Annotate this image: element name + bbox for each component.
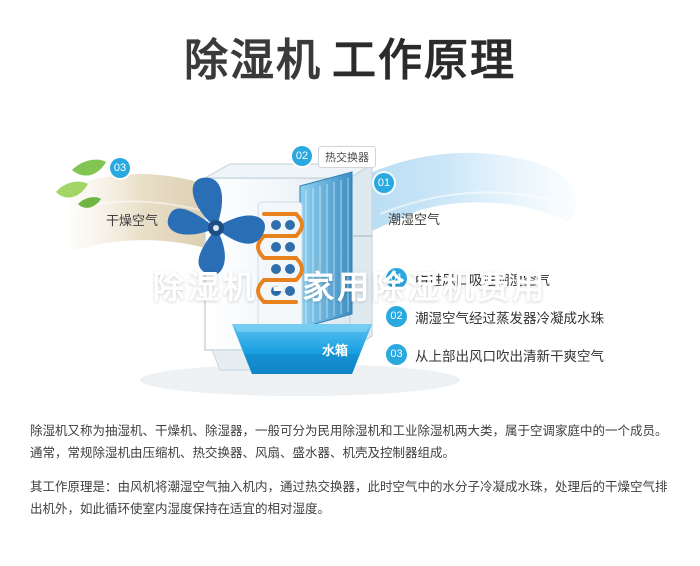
page-title: 除湿机工作原理 xyxy=(0,24,700,88)
dry-air-label: 干燥空气 xyxy=(106,210,158,229)
humid-air-label: 潮湿空气 xyxy=(388,209,440,228)
water-tank xyxy=(232,324,372,374)
list-item: 02 潮湿空气经过蒸发器冷凝成水珠 xyxy=(386,306,686,327)
heat-exchanger-label: 热交换器 xyxy=(318,146,376,168)
step-list: 01 中进风口吸进潮湿空气 02 潮湿空气经过蒸发器冷凝成水珠 03 从上部出风… xyxy=(386,268,686,382)
list-item: 01 中进风口吸进潮湿空气 xyxy=(386,268,686,289)
description-paragraph-1: 除湿机又称为抽湿机、干燥机、除湿器，一般可分为民用除湿机和工业除湿机两大类，属于… xyxy=(30,420,670,464)
heat-exchanger-block xyxy=(300,172,352,328)
list-item: 03 从上部出风口吹出清新干爽空气 xyxy=(386,344,686,365)
step-text: 中进风口吸进潮湿空气 xyxy=(415,269,550,289)
badge-01: 01 xyxy=(374,173,394,193)
page-root: 除湿机工作原理 xyxy=(0,0,700,566)
badge-03: 03 xyxy=(110,158,130,178)
page-title-part2: 工作原理 xyxy=(332,35,516,86)
water-tank-label: 水箱 xyxy=(322,340,348,359)
step-text: 从上部出风口吹出清新干爽空气 xyxy=(415,345,604,365)
badge-02: 02 xyxy=(292,146,312,166)
step-number: 02 xyxy=(386,306,407,327)
step-number: 01 xyxy=(386,268,407,289)
step-number: 03 xyxy=(386,344,407,365)
description-block: 除湿机又称为抽湿机、干燥机、除湿器，一般可分为民用除湿机和工业除湿机两大类，属于… xyxy=(30,420,670,520)
dehumidifier-diagram: 热交换器 02 03 干燥空气 01 潮湿空气 水箱 01 中进风口吸进潮湿空气… xyxy=(0,118,700,408)
page-title-part1: 除湿机 xyxy=(184,35,322,86)
step-text: 潮湿空气经过蒸发器冷凝成水珠 xyxy=(415,307,604,327)
description-paragraph-2: 其工作原理是：由风机将潮湿空气抽入机内，通过热交换器，此时空气中的水分子冷凝成水… xyxy=(30,476,670,520)
